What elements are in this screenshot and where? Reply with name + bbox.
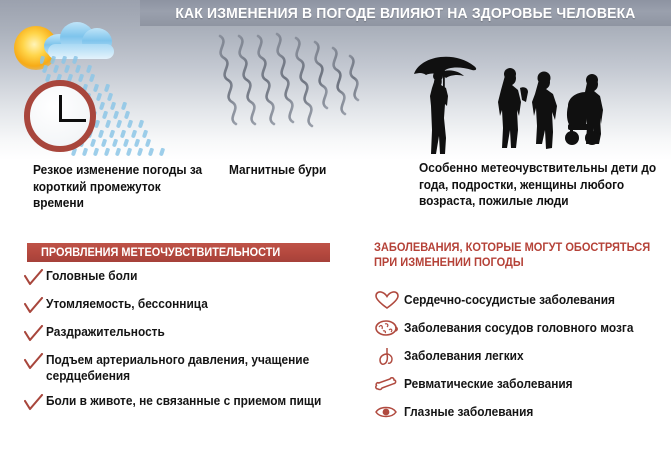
caption-sensitive-groups: Особенно метеочувствительны дети до года… <box>419 160 657 210</box>
magnetic-waves-illustration <box>212 28 372 154</box>
rain-drop-icon <box>127 120 133 129</box>
rain-drop-icon <box>145 138 151 147</box>
check-icon <box>24 353 46 371</box>
check-icon <box>24 394 46 412</box>
check-icon <box>24 269 44 287</box>
rain-drop-icon <box>116 120 122 129</box>
caption-weather: Резкое изменение погоды за короткий пром… <box>33 162 204 212</box>
rain-drop-icon <box>159 148 165 157</box>
check-icon <box>24 394 44 412</box>
teenagers-icon <box>498 68 557 149</box>
disease-list-item: Заболевания сосудов головного мозга <box>374 318 664 338</box>
page-title: КАК ИЗМЕНЕНИЯ В ПОГОДЕ ВЛИЯЮТ НА ЗДОРОВЬ… <box>175 5 635 22</box>
clock-icon <box>24 80 96 152</box>
rain-drop-icon <box>112 138 118 147</box>
rain-drop-icon <box>53 65 59 74</box>
rain-drop-icon <box>141 129 147 138</box>
rain-drop-icon <box>50 56 56 64</box>
disease-list-item: Глазные заболевания <box>374 402 664 422</box>
diseases-heading: ЗАБОЛЕВАНИЯ, КОТОРЫЕ МОГУТ ОБОСТРЯТЬСЯ П… <box>374 241 652 271</box>
rain-drop-icon <box>61 56 67 64</box>
symptom-label: Подъем артериального давления, учащение … <box>46 352 339 384</box>
rain-drop-icon <box>107 92 113 101</box>
rain-drop-icon <box>92 83 98 92</box>
rain-drop-icon <box>105 120 111 129</box>
eye-icon <box>374 402 404 422</box>
diseases-list: Сердечно-сосудистые заболеванияЗаболеван… <box>374 290 664 430</box>
cloud-icon <box>44 20 118 60</box>
symptom-list-item: Боли в животе, не связанные с приемом пи… <box>24 393 354 412</box>
rain-drop-icon <box>89 74 95 83</box>
rain-drop-icon <box>103 83 109 92</box>
symptom-list-item: Раздражительность <box>24 324 354 343</box>
symptom-list-item: Головные боли <box>24 268 354 287</box>
rain-drop-icon <box>108 129 114 138</box>
rain-drop-icon <box>126 148 132 157</box>
rain-drop-icon <box>64 65 70 74</box>
heart-icon <box>374 290 404 310</box>
symptom-label: Боли в животе, не связанные с приемом пи… <box>46 393 339 409</box>
weather-illustration <box>4 12 179 160</box>
brain-icon <box>374 318 404 338</box>
disease-list-item: Ревматические заболевания <box>374 374 664 394</box>
disease-label: Глазные заболевания <box>404 404 533 420</box>
check-icon <box>24 353 44 371</box>
person-with-umbrella-icon <box>414 57 476 154</box>
disease-list-item: Сердечно-сосудистые заболевания <box>374 290 664 310</box>
infographic-root: КАК ИЗМЕНЕНИЯ В ПОГОДЕ ВЛИЯЮТ НА ЗДОРОВЬ… <box>0 0 671 465</box>
caption-magnetic-storms: Магнитные бури <box>229 162 391 179</box>
rain-drop-icon <box>102 111 108 120</box>
disease-label: Ревматические заболевания <box>404 376 573 392</box>
check-icon <box>24 297 44 315</box>
rain-drop-icon <box>130 129 136 138</box>
rain-drop-icon <box>113 111 119 120</box>
clock-hour-hand <box>60 119 86 122</box>
symptom-list-item: Утомляемость, бессонница <box>24 296 354 315</box>
wave-icon <box>212 28 372 154</box>
disease-label: Заболевания легких <box>404 348 524 364</box>
rain-drop-icon <box>40 56 45 64</box>
symptoms-banner-label: ПРОЯВЛЕНИЯ МЕТЕОЧУВСТВИТЕЛЬНОСТИ <box>41 247 280 259</box>
page-title-bar: КАК ИЗМЕНЕНИЯ В ПОГОДЕ ВЛИЯЮТ НА ЗДОРОВЬ… <box>140 0 671 26</box>
rain-drop-icon <box>99 102 105 111</box>
rain-drop-icon <box>93 148 99 157</box>
rain-drop-icon <box>115 148 121 157</box>
rain-drop-icon <box>78 74 84 83</box>
rain-drop-icon <box>97 129 103 138</box>
symptom-label: Головные боли <box>46 268 339 284</box>
disease-label: Сердечно-сосудистые заболевания <box>404 292 615 308</box>
rain-drop-icon <box>134 138 140 147</box>
rain-drop-icon <box>123 138 129 147</box>
symptoms-list: Головные болиУтомляемость, бессонницаРаз… <box>24 268 354 421</box>
rain-drop-icon <box>72 56 78 64</box>
rain-drop-icon <box>96 92 102 101</box>
rain-drop-icon <box>124 111 130 120</box>
rain-drop-icon <box>104 148 110 157</box>
rain-drop-icon <box>119 129 125 138</box>
rain-drop-icon <box>121 102 127 111</box>
symptom-label: Утомляемость, бессонница <box>46 296 339 312</box>
people-illustration <box>402 44 637 160</box>
rain-drop-icon <box>90 138 96 147</box>
rain-drop-icon <box>101 138 107 147</box>
clock-minute-hand <box>59 95 62 122</box>
rain-drop-icon <box>82 148 88 157</box>
symptoms-banner: ПРОЯВЛЕНИЯ МЕТЕОЧУВСТВИТЕЛЬНОСТИ <box>27 243 330 262</box>
check-icon <box>24 297 46 315</box>
rain-drop-icon <box>86 65 92 74</box>
symptom-label: Раздражительность <box>46 324 339 340</box>
disease-list-item: Заболевания легких <box>374 346 664 366</box>
rain-drop-icon <box>138 120 144 129</box>
rain-drop-icon <box>148 148 154 157</box>
person-with-stroller-icon <box>565 74 603 145</box>
symptom-list-item: Подъем артериального давления, учащение … <box>24 352 354 384</box>
rain-drop-icon <box>42 65 48 74</box>
check-icon <box>24 325 44 343</box>
rain-drop-icon <box>75 65 81 74</box>
disease-label: Заболевания сосудов головного мозга <box>404 320 633 336</box>
check-icon <box>24 269 46 287</box>
rain-drop-icon <box>110 102 116 111</box>
lung-icon <box>374 346 404 366</box>
bone-icon <box>374 374 404 394</box>
rain-drop-icon <box>137 148 143 157</box>
check-icon <box>24 325 46 343</box>
